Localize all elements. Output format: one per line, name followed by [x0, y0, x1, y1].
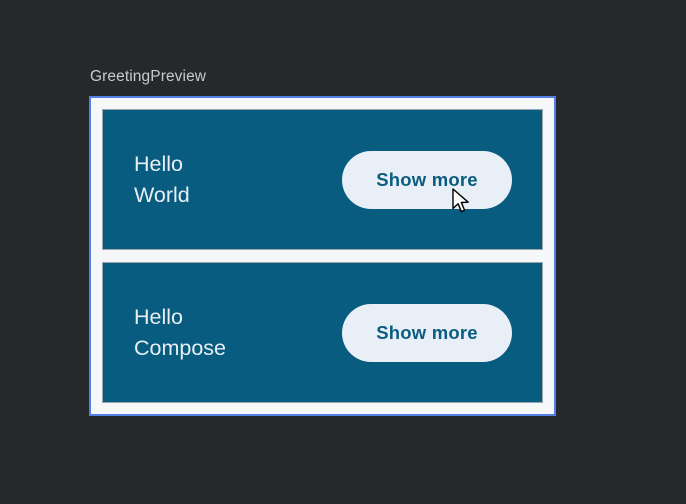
preview-frame: Hello World Show more Hello Compose Show… [89, 96, 556, 416]
greeting-message: Hello Compose [134, 302, 226, 364]
show-more-button[interactable]: Show more [342, 304, 512, 362]
greeting-message: Hello World [134, 149, 190, 211]
greeting-card: Hello World Show more [102, 109, 543, 250]
page-title: GreetingPreview [90, 68, 206, 86]
show-more-button[interactable]: Show more [342, 151, 512, 209]
preview-surface: Hello World Show more Hello Compose Show… [102, 109, 543, 403]
greeting-card: Hello Compose Show more [102, 262, 543, 403]
compose-preview-root: GreetingPreview Hello World Show more He… [0, 0, 686, 504]
